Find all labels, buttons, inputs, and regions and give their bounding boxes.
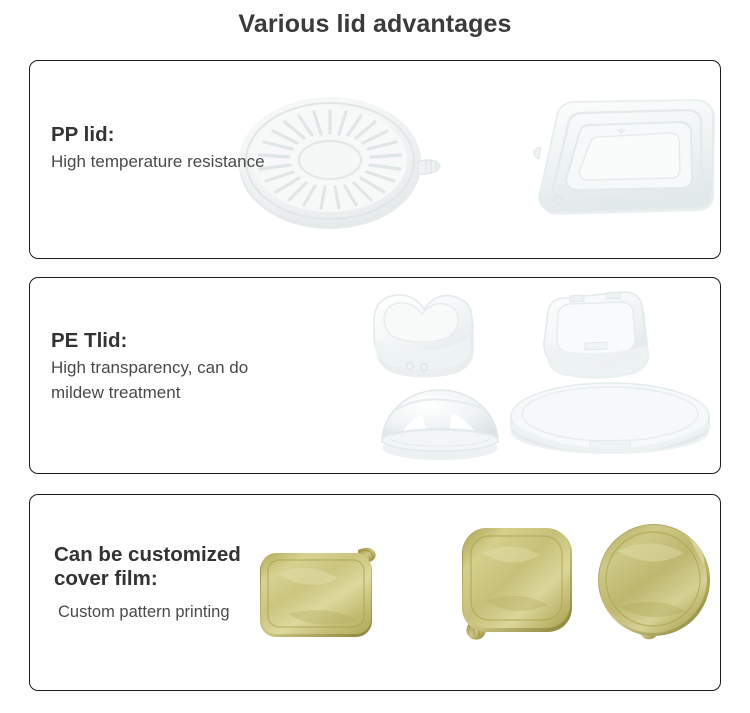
square-gold-foil-lid-graphic [462,528,572,640]
dome-pe-lid-graphic [382,390,498,460]
panel-cover-film: Can be customized cover film: Custom pat… [29,494,721,691]
rectangular-gold-foil-lid-graphic [260,548,376,637]
pp-lid-description: High temperature resistance [51,150,265,175]
square-pe-lid-graphic [544,292,649,379]
round-gold-foil-lid-graphic [598,524,710,639]
pp-lid-text-block: PP lid: High temperature resistance [51,123,265,175]
cover-film-text-block: Can be customized cover film: Custom pat… [54,543,241,625]
pp-lid-heading: PP lid: [51,123,265,147]
heart-pe-lid-graphic [374,295,474,378]
panel-pe-lid: PE Tlid: High transparency, can do milde… [29,277,721,474]
panel-pp-lid: PP lid: High temperature resistance [29,60,721,259]
round-pp-lid-graphic [239,97,440,229]
pe-lid-heading: PE Tlid: [51,329,248,353]
pe-lid-description: High transparency, can do mildew treatme… [51,356,248,405]
oval-pe-lid-graphic [511,383,709,454]
rectangular-pp-lid-graphic [534,100,715,215]
cover-film-description: Custom pattern printing [54,594,241,625]
page-title: Various lid advantages [0,10,750,39]
pe-lid-text-block: PE Tlid: High transparency, can do milde… [51,329,248,405]
cover-film-heading: Can be customized cover film: [54,543,241,591]
